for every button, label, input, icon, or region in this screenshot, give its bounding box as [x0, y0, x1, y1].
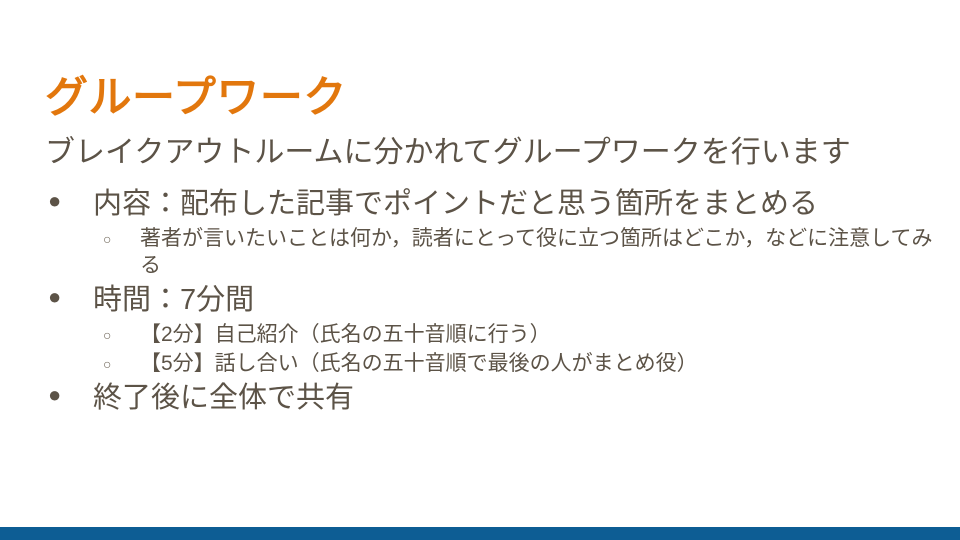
- bullet-list-level2: ○ 【2分】自己紹介（氏名の五十音順に行う） ○ 【5分】話し合い（氏名の五十音…: [95, 321, 935, 377]
- bullet-list-level2: ○ 著者が言いたいことは何か，読者にとって役に立つ箇所はどこか，などに注意してみ…: [95, 225, 935, 280]
- slide-subtitle: ブレイクアウトルームに分かれてグループワークを行います: [45, 134, 935, 172]
- list-item-label: 終了後に全体で共有: [93, 380, 935, 417]
- footer-accent-bar: [0, 527, 960, 540]
- hollow-circle-bullet-icon: ○: [103, 226, 121, 253]
- hollow-circle-bullet-icon: ○: [103, 322, 121, 349]
- list-item: ○ 【5分】話し合い（氏名の五十音順で最後の人がまとめ役）: [95, 350, 935, 378]
- slide-body: ブレイクアウトルームに分かれてグループワークを行います ● 内容：配布した記事で…: [45, 134, 935, 419]
- list-item: ● 時間：7分間: [45, 282, 935, 319]
- page-title: グループワーク: [45, 77, 347, 120]
- filled-circle-bullet-icon: ●: [48, 186, 68, 216]
- list-item: ● 内容：配布した記事でポイントだと思う箇所をまとめる: [45, 186, 935, 223]
- bullet-list-level1: ● 内容：配布した記事でポイントだと思う箇所をまとめる ○ 著者が言いたいことは…: [45, 186, 935, 417]
- list-item-label: 著者が言いたいことは何か，読者にとって役に立つ箇所はどこか，などに注意してみる: [140, 225, 935, 280]
- list-item-label: 【2分】自己紹介（氏名の五十音順に行う）: [140, 321, 935, 349]
- sub-list-wrapper: ○ 著者が言いたいことは何か，読者にとって役に立つ箇所はどこか，などに注意してみ…: [45, 225, 935, 280]
- filled-circle-bullet-icon: ●: [48, 380, 68, 410]
- sub-list-wrapper: ○ 【2分】自己紹介（氏名の五十音順に行う） ○ 【5分】話し合い（氏名の五十音…: [45, 321, 935, 377]
- list-item-label: 内容：配布した記事でポイントだと思う箇所をまとめる: [93, 186, 935, 223]
- presentation-slide: グループワーク ブレイクアウトルームに分かれてグループワークを行います ● 内容…: [0, 0, 960, 540]
- filled-circle-bullet-icon: ●: [48, 282, 68, 312]
- list-item: ● 終了後に全体で共有: [45, 380, 935, 417]
- list-item-label: 【5分】話し合い（氏名の五十音順で最後の人がまとめ役）: [140, 350, 935, 378]
- list-item-label: 時間：7分間: [93, 282, 935, 319]
- list-item: ○ 【2分】自己紹介（氏名の五十音順に行う）: [95, 321, 935, 349]
- list-item: ○ 著者が言いたいことは何か，読者にとって役に立つ箇所はどこか，などに注意してみ…: [95, 225, 935, 280]
- hollow-circle-bullet-icon: ○: [103, 351, 121, 378]
